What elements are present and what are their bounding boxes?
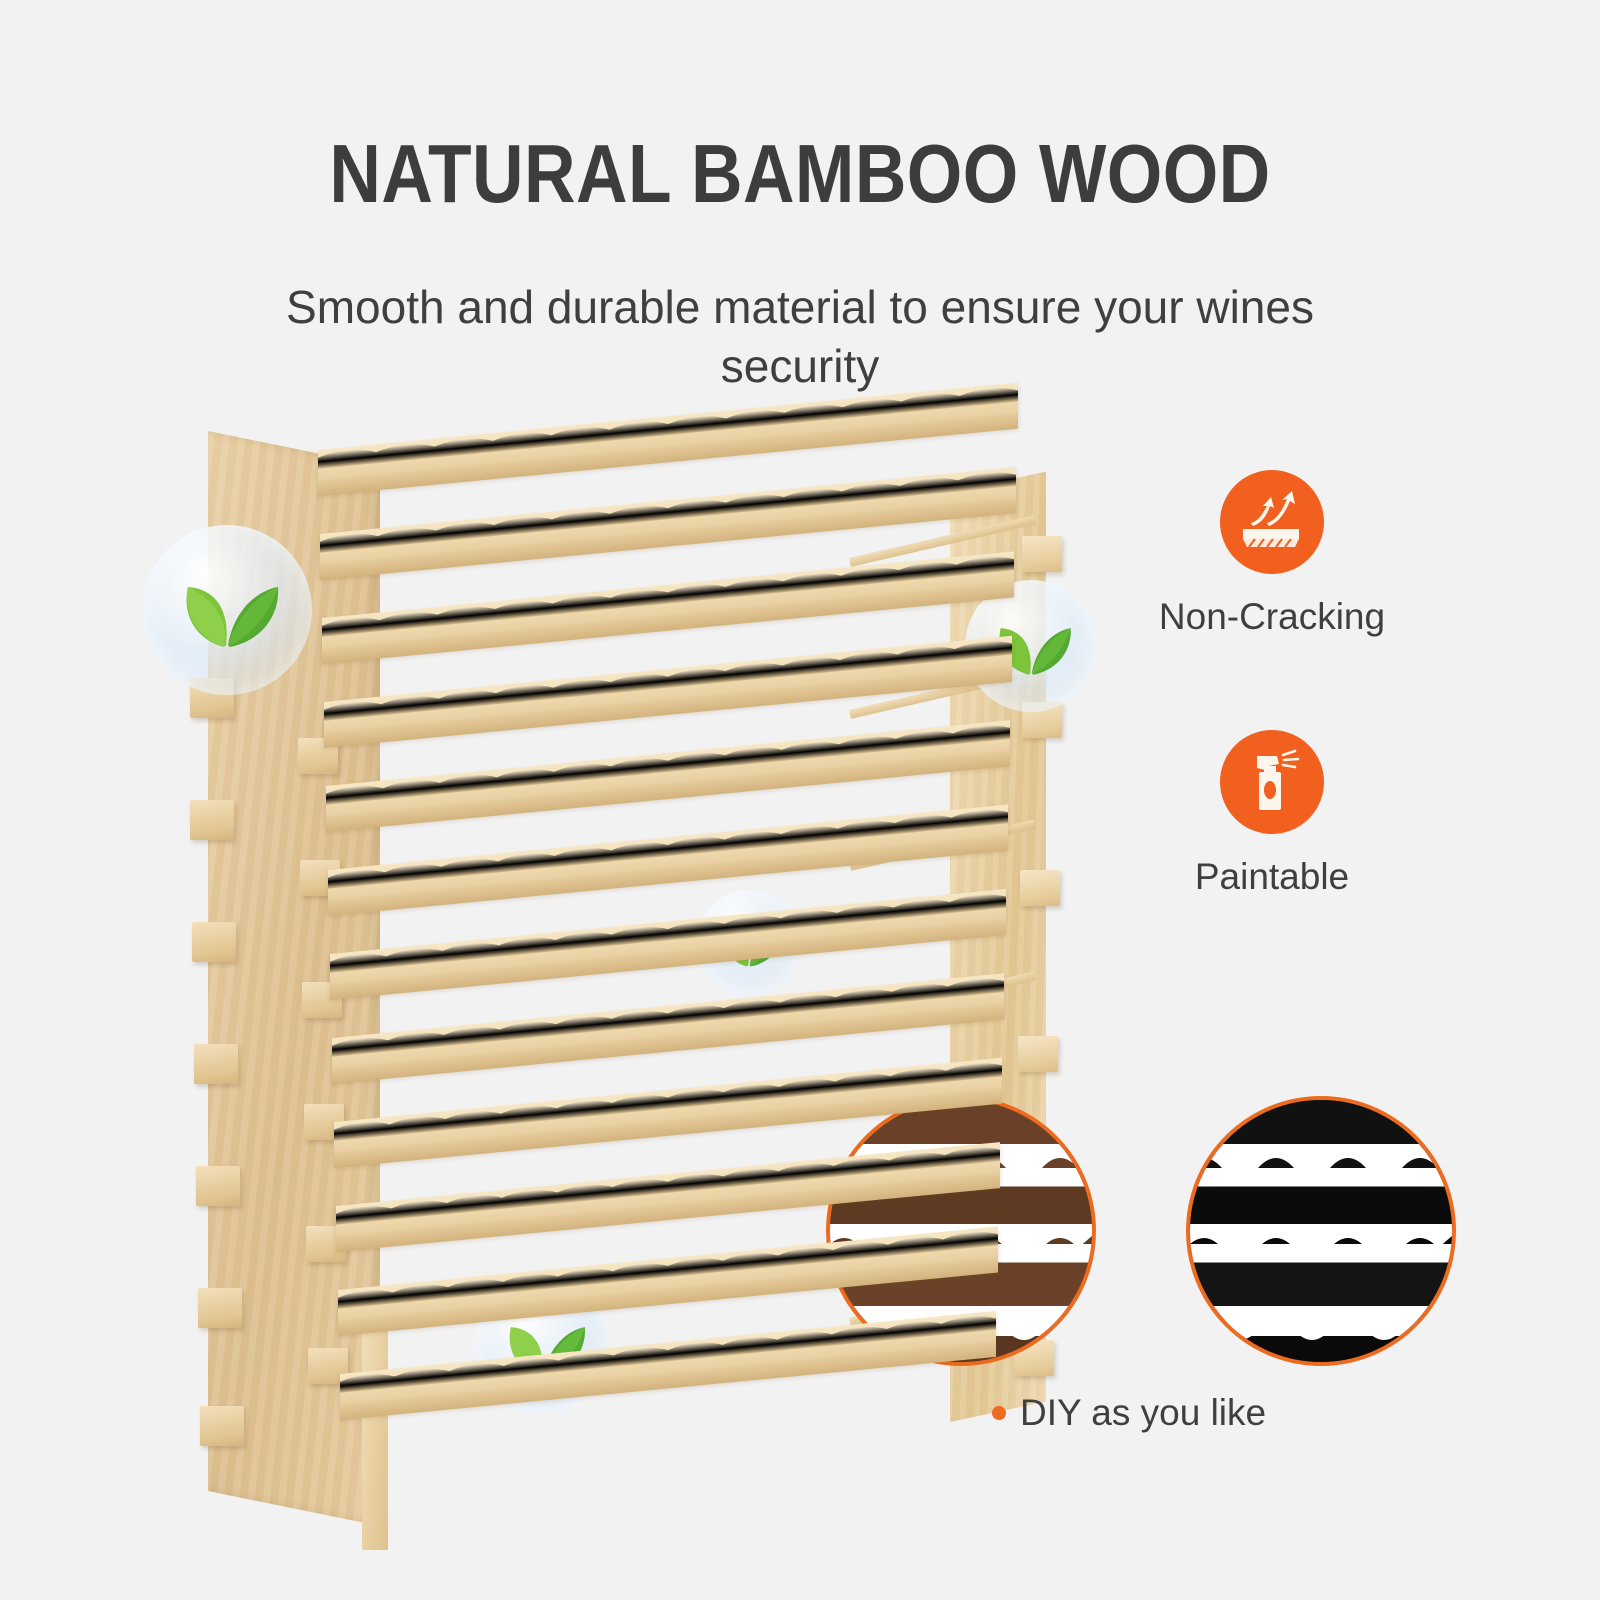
rack-tenon-left [190,800,234,840]
rack-tenon-left [198,1288,242,1328]
leaf-bubble-left [142,525,312,695]
rack-tenon-left [194,1044,238,1084]
leaf-icon [172,565,282,655]
plank-arrows-icon-badge [1220,470,1324,574]
color-swatch-black [1186,1096,1456,1366]
rack-tenon-left [196,1166,240,1206]
product-image: VEVOR TOUGH TOOLS, HALF PRICE [150,440,1080,1570]
rack-tenon-left [200,1406,244,1446]
diy-caption: DIY as you like [992,1392,1266,1434]
feature-label: Paintable [1122,856,1422,898]
rack-shelf-row [340,1311,996,1418]
page-subtitle: Smooth and durable material to ensure yo… [250,278,1350,396]
feature-paintable: Paintable [1122,730,1422,898]
diy-caption-text: DIY as you like [1020,1392,1266,1434]
feature-non-cracking: Non-Cracking [1122,470,1422,638]
orange-dot-icon [992,1406,1006,1420]
feature-label: Non-Cracking [1122,596,1422,638]
plank-arrows-icon [1237,489,1307,555]
rack-tenon-right [1020,870,1060,906]
spray-bottle-icon [1239,748,1305,816]
rack-tenon-right [1018,1036,1058,1072]
rack-tenon-left [192,922,236,962]
spray-bottle-icon-badge [1220,730,1324,834]
page-title: NATURAL BAMBOO WOOD [112,126,1488,222]
rack-tenon-right [1022,536,1062,572]
black-rack-scallops [1190,1100,1452,1362]
rack-front-leg [362,1320,388,1550]
